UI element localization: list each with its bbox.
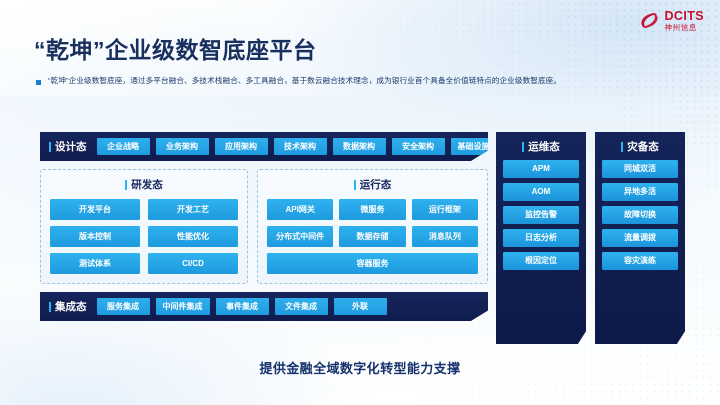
brand-name-en: DCITS	[665, 10, 705, 23]
dev-panel-grid: 开发平台 开发工艺 版本控制 性能优化 测试体系 CI/CD	[50, 199, 238, 274]
runtime-cell-2[interactable]: 运行框架	[412, 199, 478, 220]
dr-cell-1[interactable]: 异地多活	[602, 183, 678, 201]
brand-logo: DCITS 神州信息	[638, 9, 705, 32]
integration-band-title: 集成态	[49, 299, 91, 314]
design-chip-5[interactable]: 安全架构	[392, 138, 445, 155]
accent-tick-icon	[125, 180, 127, 190]
integration-band-label: 集成态	[55, 299, 87, 314]
design-band[interactable]: 设计态 企业战略 业务架构 应用架构 技术架构 数据架构 安全架构 基础设施架构	[40, 132, 488, 161]
runtime-panel-title: 运行态	[267, 177, 478, 192]
dev-cell-2[interactable]: 版本控制	[50, 226, 140, 247]
ops-cell-4[interactable]: 根因定位	[503, 252, 579, 270]
design-band-items: 企业战略 业务架构 应用架构 技术架构 数据架构 安全架构 基础设施架构	[97, 138, 513, 155]
dcits-swirl-icon	[638, 9, 661, 32]
ops-cell-1[interactable]: AOM	[503, 183, 579, 201]
dev-panel-title: 研发态	[50, 177, 238, 192]
footer-tagline: 提供金融全域数字化转型能力支撑	[0, 358, 720, 377]
runtime-cell-1[interactable]: 微服务	[339, 199, 405, 220]
ops-cell-0[interactable]: APM	[503, 160, 579, 178]
dr-panel-title: 灾备态	[602, 139, 678, 154]
runtime-panel: 运行态 API网关 微服务 运行框架 分布式中间件 数据存储 消息队列 容器服务	[257, 169, 488, 284]
dr-cell-2[interactable]: 故障切换	[602, 206, 678, 224]
subtitle-row: “乾坤”企业级数智底座，通过多平台融合、多技术栈融合、多工具融合，基于数云融合技…	[36, 76, 696, 86]
dev-cell-3[interactable]: 性能优化	[148, 226, 238, 247]
dr-cell-0[interactable]: 同城双活	[602, 160, 678, 178]
dev-cell-4[interactable]: 测试体系	[50, 253, 140, 274]
design-band-label: 设计态	[55, 139, 87, 154]
design-band-title: 设计态	[49, 139, 91, 154]
runtime-cell-5[interactable]: 消息队列	[412, 226, 478, 247]
dev-cell-0[interactable]: 开发平台	[50, 199, 140, 220]
ops-panel-list: APM AOM 监控告警 日志分析 根因定位	[503, 160, 579, 270]
accent-tick-icon	[49, 142, 51, 152]
ops-cell-3[interactable]: 日志分析	[503, 229, 579, 247]
accent-tick-icon	[354, 180, 356, 190]
dr-panel-label: 灾备态	[627, 139, 659, 154]
dr-cell-3[interactable]: 流量调拨	[602, 229, 678, 247]
integration-chip-3[interactable]: 文件集成	[275, 298, 328, 315]
brand-name-cn: 神州信息	[665, 24, 705, 32]
ops-cell-2[interactable]: 监控告警	[503, 206, 579, 224]
diagram-right-column: 运维态 APM AOM 监控告警 日志分析 根因定位 灾备态 同城双活 异地多活…	[496, 132, 685, 344]
dev-panel: 研发态 开发平台 开发工艺 版本控制 性能优化 测试体系 CI/CD	[40, 169, 248, 284]
accent-tick-icon	[49, 302, 51, 312]
ops-panel: 运维态 APM AOM 监控告警 日志分析 根因定位	[496, 132, 586, 344]
diagram-left-column: 设计态 企业战略 业务架构 应用架构 技术架构 数据架构 安全架构 基础设施架构…	[40, 132, 488, 344]
integration-chip-0[interactable]: 服务集成	[97, 298, 150, 315]
dev-cell-5[interactable]: CI/CD	[148, 253, 238, 274]
dr-panel-list: 同城双活 异地多活 故障切换 流量调拨 容灾演练	[602, 160, 678, 270]
design-chip-2[interactable]: 应用架构	[215, 138, 268, 155]
accent-tick-icon	[621, 142, 623, 152]
subtitle-text: “乾坤”企业级数智底座，通过多平台融合、多技术栈融合、多工具融合，基于数云融合技…	[48, 76, 561, 86]
integration-chip-4[interactable]: 外联	[334, 298, 387, 315]
design-chip-1[interactable]: 业务架构	[156, 138, 209, 155]
accent-tick-icon	[522, 142, 524, 152]
architecture-diagram: 设计态 企业战略 业务架构 应用架构 技术架构 数据架构 安全架构 基础设施架构…	[40, 132, 685, 344]
design-chip-3[interactable]: 技术架构	[274, 138, 327, 155]
runtime-cell-container-service[interactable]: 容器服务	[267, 253, 478, 274]
dr-panel: 灾备态 同城双活 异地多活 故障切换 流量调拨 容灾演练	[595, 132, 685, 344]
runtime-cell-3[interactable]: 分布式中间件	[267, 226, 333, 247]
runtime-panel-grid: API网关 微服务 运行框架 分布式中间件 数据存储 消息队列 容器服务	[267, 199, 478, 274]
integration-chip-2[interactable]: 事件集成	[216, 298, 269, 315]
dev-panel-label: 研发态	[131, 177, 163, 192]
square-bullet-icon	[36, 80, 41, 85]
integration-chip-1[interactable]: 中间件集成	[156, 298, 210, 315]
integration-band[interactable]: 集成态 服务集成 中间件集成 事件集成 文件集成 外联	[40, 292, 488, 321]
ops-panel-label: 运维态	[528, 139, 560, 154]
design-chip-4[interactable]: 数据架构	[333, 138, 386, 155]
ops-panel-title: 运维态	[503, 139, 579, 154]
runtime-cell-4[interactable]: 数据存储	[339, 226, 405, 247]
runtime-cell-0[interactable]: API网关	[267, 199, 333, 220]
integration-band-items: 服务集成 中间件集成 事件集成 文件集成 外联	[97, 298, 387, 315]
runtime-panel-label: 运行态	[360, 177, 392, 192]
brand-text: DCITS 神州信息	[665, 10, 705, 31]
dr-cell-4[interactable]: 容灾演练	[602, 252, 678, 270]
page-title: “乾坤”企业级数智底座平台	[34, 31, 317, 65]
design-chip-0[interactable]: 企业战略	[97, 138, 150, 155]
diagram-middle-row: 研发态 开发平台 开发工艺 版本控制 性能优化 测试体系 CI/CD 运行态 A	[40, 169, 488, 284]
dev-cell-1[interactable]: 开发工艺	[148, 199, 238, 220]
